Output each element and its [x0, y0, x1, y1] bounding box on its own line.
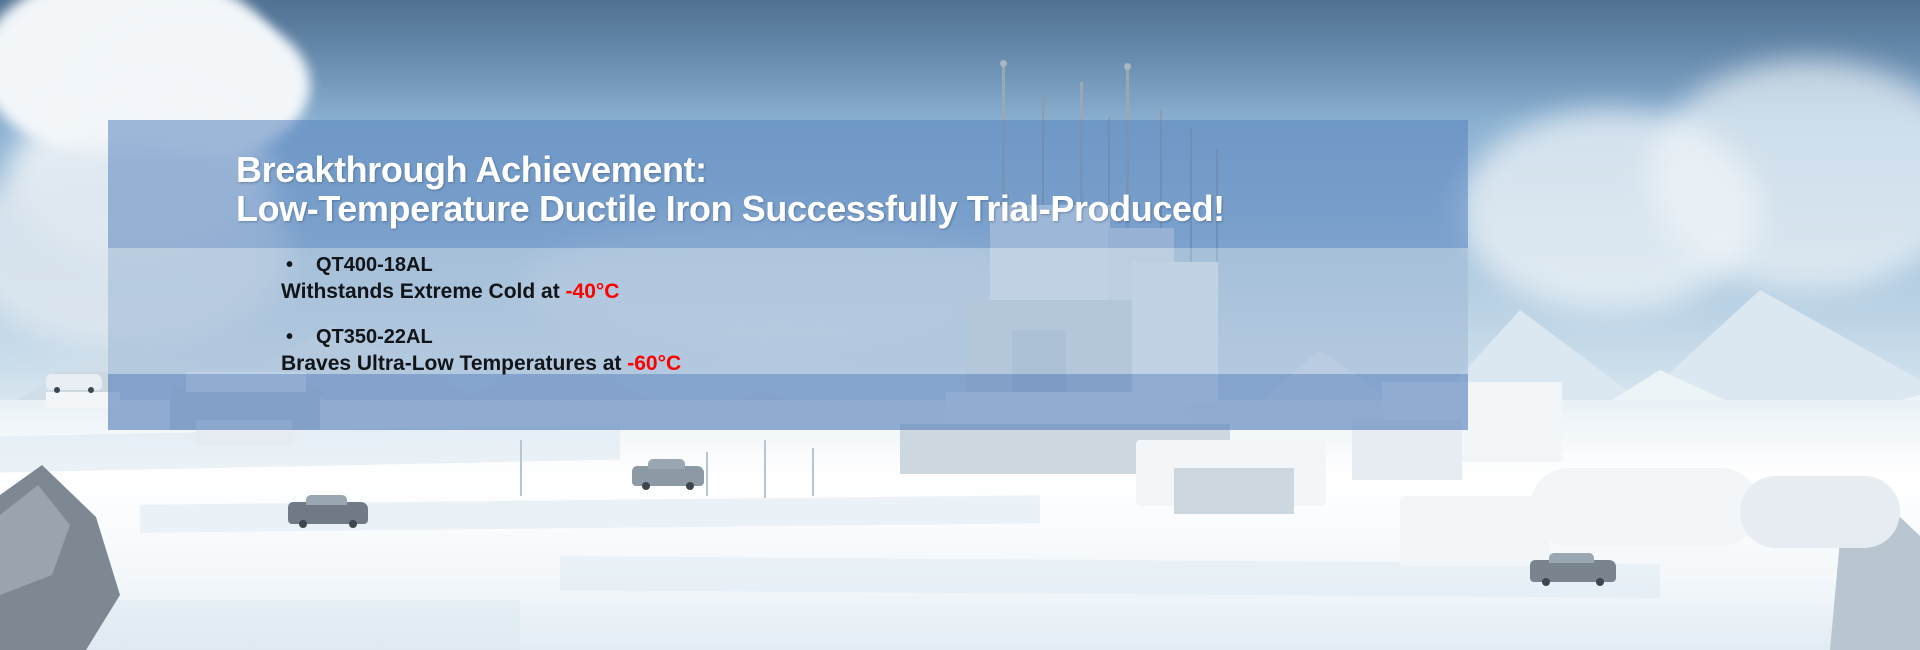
feature-list: •QT400-18AL Withstands Extreme Cold at -… [108, 252, 1468, 378]
feature-claim-row-2: Braves Ultra-Low Temperatures at -60°C [108, 350, 1468, 378]
feature-item-1: •QT400-18AL Withstands Extreme Cold at -… [108, 252, 1468, 306]
foreground-rock-left [0, 455, 130, 650]
vehicle-sedan-right [1530, 560, 1616, 582]
vehicle-suv-left [288, 502, 368, 524]
utility-pole-2 [706, 452, 708, 496]
feature-claim-text-2: Braves Ultra-Low Temperatures at [281, 352, 627, 375]
tank-small [1740, 476, 1900, 548]
tank-hut [1400, 496, 1550, 566]
feature-claim-text-1: Withstands Extreme Cold at [281, 280, 566, 303]
tank-large [1530, 468, 1760, 546]
feature-claim-row-1: Withstands Extreme Cold at -40°C [108, 278, 1468, 306]
bullet-dot-icon: • [286, 252, 316, 278]
feature-temperature-1: -40°C [566, 280, 620, 303]
feature-grade-row-2: •QT350-22AL [108, 324, 1468, 350]
headline-line-2: Low-Temperature Ductile Iron Successfull… [236, 189, 1466, 228]
promo-overlay-panel: Breakthrough Achievement: Low-Temperatur… [108, 120, 1468, 430]
headline-line-1: Breakthrough Achievement: [236, 150, 1466, 189]
utility-pole-3 [812, 448, 814, 496]
feature-grade-2: QT350-22AL [316, 326, 433, 348]
utility-pole-4 [764, 440, 766, 498]
tower-mast-5-tip [1124, 63, 1131, 70]
tower-mast-1-tip [1000, 60, 1007, 67]
feature-item-2: •QT350-22AL Braves Ultra-Low Temperature… [108, 324, 1468, 378]
feature-temperature-2: -60°C [627, 352, 681, 375]
vehicle-suv-center [632, 466, 704, 486]
vehicle-truck-far-left [46, 374, 102, 390]
bullet-dot-icon: • [286, 324, 316, 350]
feature-grade-1: QT400-18AL [316, 254, 433, 276]
feature-grade-row-1: •QT400-18AL [108, 252, 1468, 278]
utility-pole-1 [520, 440, 522, 496]
banner-headline: Breakthrough Achievement: Low-Temperatur… [236, 150, 1466, 228]
